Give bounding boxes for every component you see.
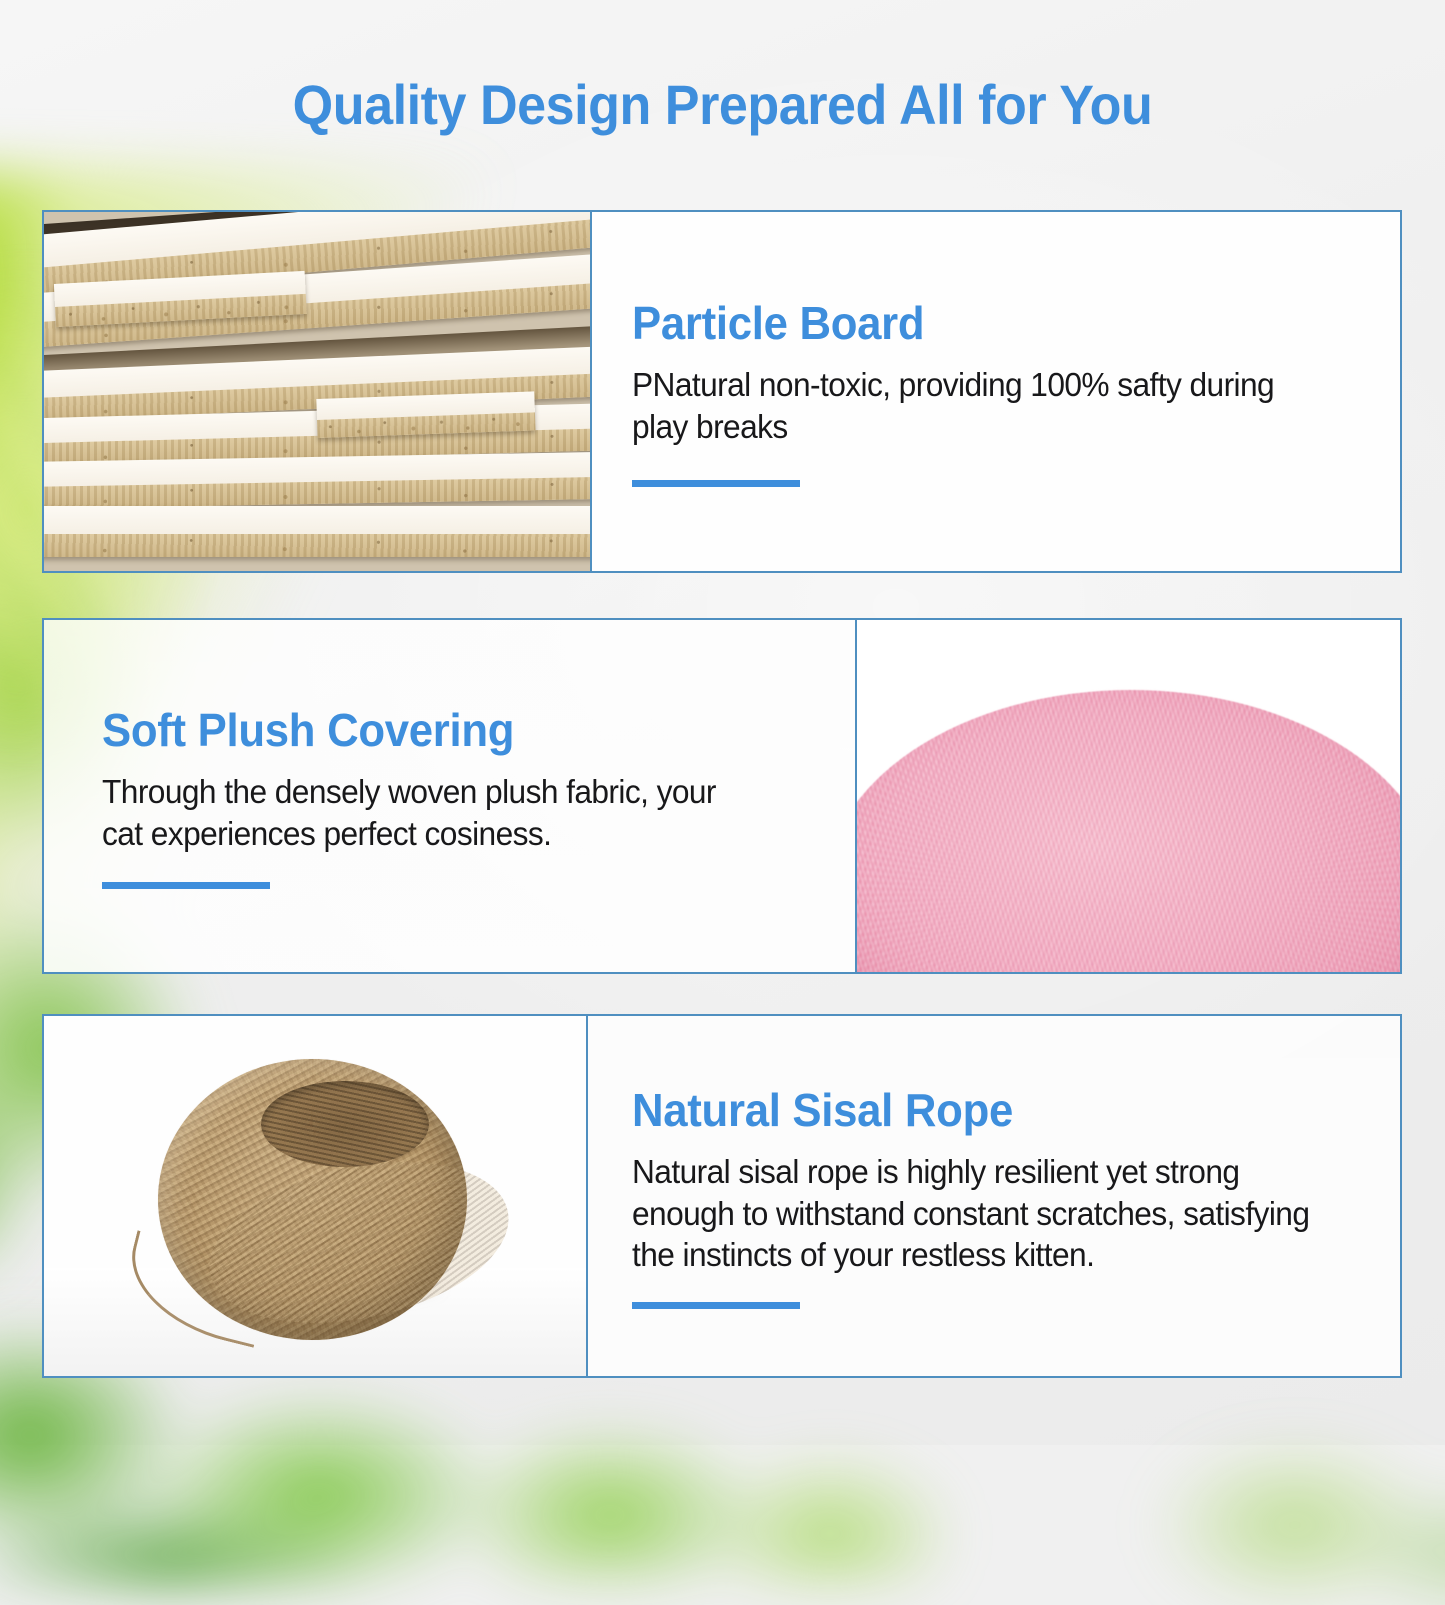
feature-card-soft-plush-covering: Soft Plush Covering Through the densely … bbox=[42, 618, 1402, 974]
page-title: Quality Design Prepared All for You bbox=[51, 72, 1395, 137]
feature-card-particle-board: Particle Board PNatural non-toxic, provi… bbox=[42, 210, 1402, 573]
twine-illustration bbox=[44, 1016, 586, 1376]
card-heading: Soft Plush Covering bbox=[102, 703, 779, 757]
feature-card-natural-sisal-rope: Natural Sisal Rope Natural sisal rope is… bbox=[42, 1014, 1402, 1378]
twine-fuzz-texture bbox=[158, 1059, 467, 1340]
card-body-text: Natural sisal rope is highly resilient y… bbox=[632, 1151, 1331, 1276]
board-edge bbox=[44, 534, 590, 557]
plush-fuzz-texture bbox=[857, 690, 1400, 972]
particle-board-text-panel: Particle Board PNatural non-toxic, provi… bbox=[592, 212, 1400, 571]
plush-fabric-photo bbox=[857, 620, 1400, 972]
card-body-text: PNatural non-toxic, providing 100% safty… bbox=[632, 364, 1331, 447]
board-slab-8 bbox=[316, 391, 536, 438]
accent-underline bbox=[102, 882, 270, 889]
sisal-rope-text-panel: Natural Sisal Rope Natural sisal rope is… bbox=[588, 1016, 1400, 1376]
card-heading: Natural Sisal Rope bbox=[632, 1083, 1324, 1137]
particle-board-illustration bbox=[44, 212, 590, 571]
card-heading: Particle Board bbox=[632, 296, 1324, 350]
particle-board-photo bbox=[44, 212, 590, 571]
sisal-rope-photo bbox=[44, 1016, 586, 1376]
board-slab-6 bbox=[44, 506, 590, 556]
board-slab-5 bbox=[44, 451, 590, 510]
card-body-text: Through the densely woven plush fabric, … bbox=[102, 771, 755, 854]
soft-plush-text-panel: Soft Plush Covering Through the densely … bbox=[44, 620, 855, 972]
accent-underline bbox=[632, 480, 800, 487]
accent-underline bbox=[632, 1302, 800, 1309]
plush-illustration bbox=[857, 620, 1400, 972]
